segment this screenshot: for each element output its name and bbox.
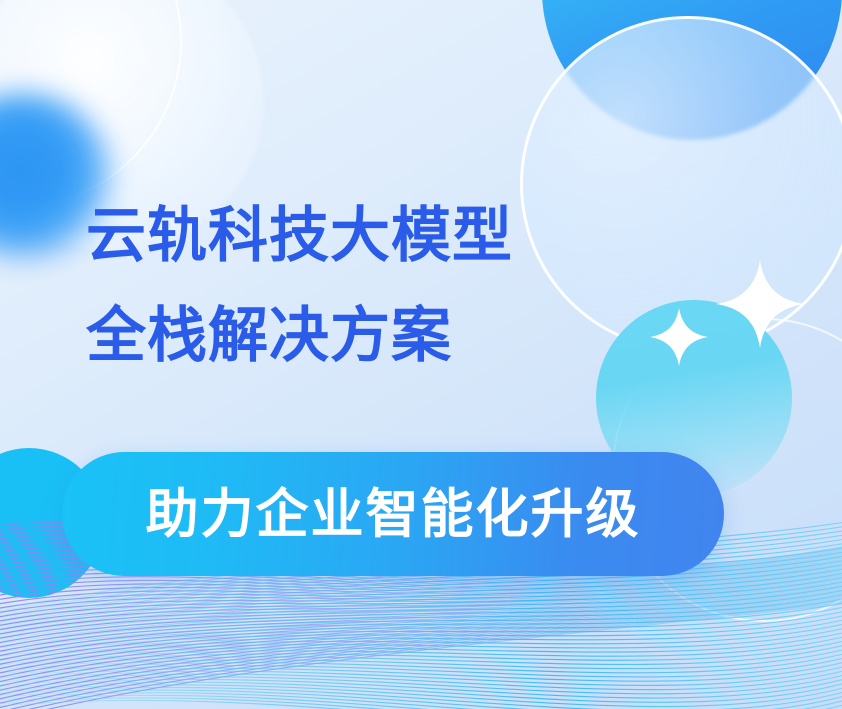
headline-line-1: 云轨科技大模型 [86, 186, 513, 286]
banner-content: 云轨科技大模型 全栈解决方案 助力企业智能化升级 [0, 0, 842, 709]
marketing-banner: 云轨科技大模型 全栈解决方案 助力企业智能化升级 [0, 0, 842, 709]
cta-button-label: 助力企业智能化升级 [146, 488, 641, 541]
headline-line-2: 全栈解决方案 [86, 286, 513, 386]
page-title: 云轨科技大模型 全栈解决方案 [86, 186, 513, 386]
cta-button[interactable]: 助力企业智能化升级 [62, 452, 724, 576]
